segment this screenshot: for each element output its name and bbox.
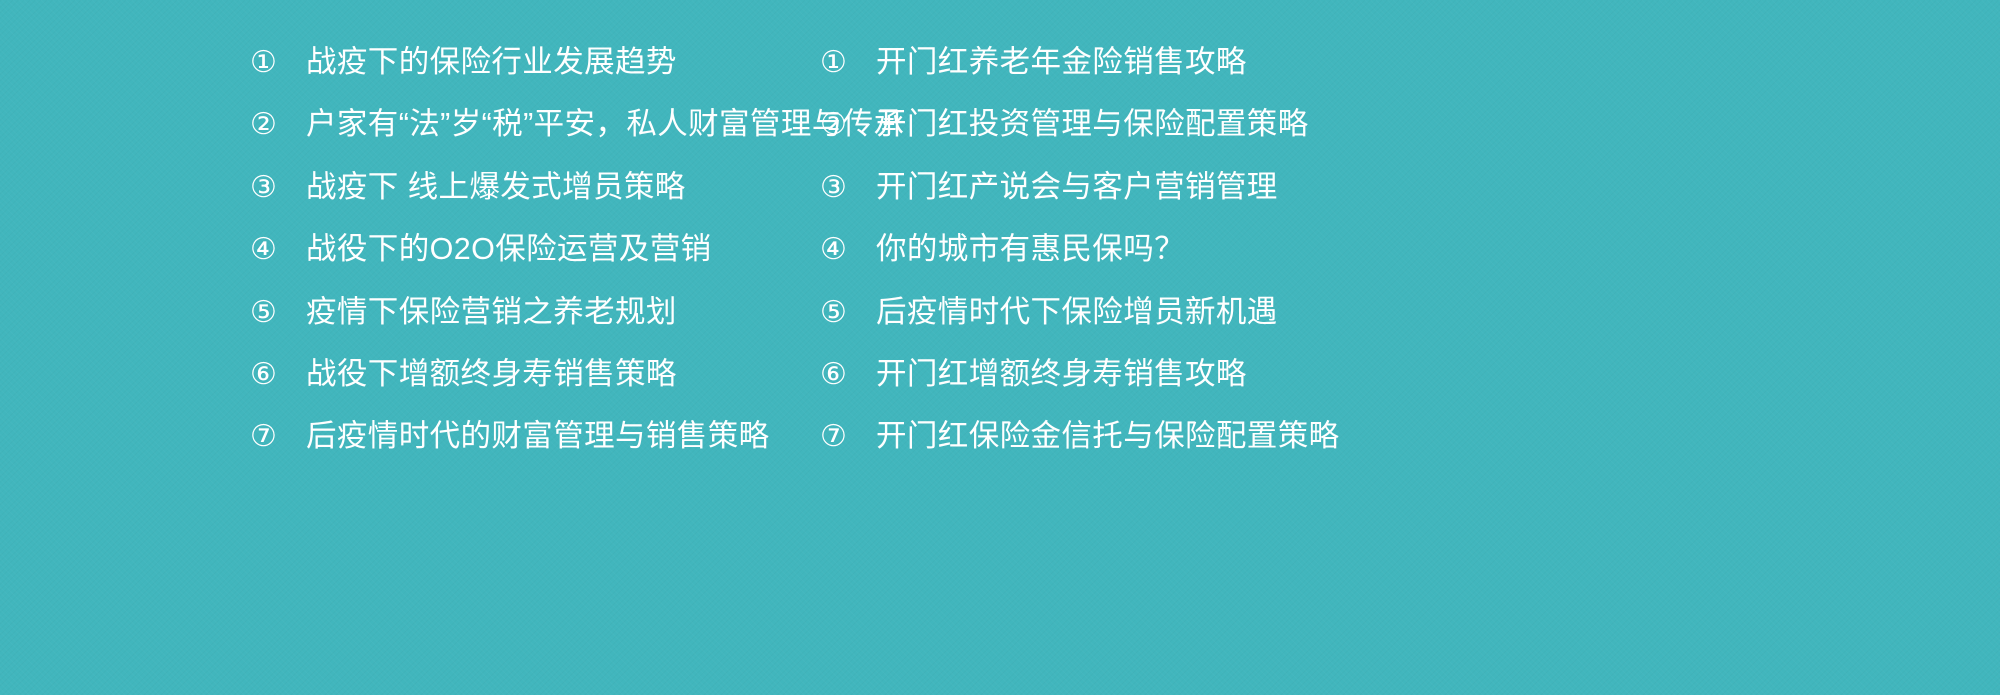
topic-marker-icon: ③: [250, 173, 306, 203]
topic-list-item[interactable]: ③ 开门红产说会与客户营销管理: [820, 172, 1750, 234]
topic-label: 战役下的O2O保险运营及营销: [306, 234, 712, 265]
topic-marker-icon: ③: [820, 173, 876, 203]
topic-list-item[interactable]: ⑤ 疫情下保险营销之养老规划: [250, 297, 785, 359]
topic-marker-icon: ⑦: [250, 422, 306, 452]
topic-list-item[interactable]: ⑥ 战役下增额终身寿销售策略: [250, 359, 785, 421]
topic-list-item[interactable]: ⑤ 后疫情时代下保险增员新机遇: [820, 297, 1750, 359]
topic-column-right: ① 开门红养老年金险销售攻略 ② 开门红投资管理与保险配置策略 ③ 开门红产说会…: [785, 47, 1750, 484]
topic-list-item[interactable]: ① 战疫下的保险行业发展趋势: [250, 47, 785, 109]
topic-marker-icon: ②: [250, 110, 306, 140]
topic-marker-icon: ⑤: [820, 298, 876, 328]
topic-marker-icon: ⑦: [820, 422, 876, 452]
slide-canvas: ① 战疫下的保险行业发展趋势 ② 户家有“法”岁“税”平安，私人财富管理与传承 …: [0, 0, 2000, 695]
topic-marker-icon: ①: [820, 48, 876, 78]
topic-label: 开门红产说会与客户营销管理: [876, 172, 1278, 203]
topic-list-item[interactable]: ⑦ 后疫情时代的财富管理与销售策略: [250, 421, 785, 483]
topic-list-item[interactable]: ② 开门红投资管理与保险配置策略: [820, 109, 1750, 171]
topic-list-item[interactable]: ③ 战疫下 线上爆发式增员策略: [250, 172, 785, 234]
topic-label: 战疫下 线上爆发式增员策略: [306, 172, 686, 203]
topic-marker-icon: ⑥: [820, 360, 876, 390]
topic-marker-icon: ⑥: [250, 360, 306, 390]
topic-marker-icon: ①: [250, 48, 306, 78]
topic-label: 疫情下保险营销之养老规划: [306, 297, 677, 328]
topic-columns: ① 战疫下的保险行业发展趋势 ② 户家有“法”岁“税”平安，私人财富管理与传承 …: [0, 0, 2000, 484]
topic-label: 开门红保险金信托与保险配置策略: [876, 421, 1340, 452]
topic-list-item[interactable]: ④ 战役下的O2O保险运营及营销: [250, 234, 785, 296]
topic-list-item[interactable]: ① 开门红养老年金险销售攻略: [820, 47, 1750, 109]
topic-list-item[interactable]: ④ 你的城市有惠民保吗？: [820, 234, 1750, 296]
topic-label: 开门红养老年金险销售攻略: [876, 47, 1247, 78]
topic-marker-icon: ④: [820, 235, 876, 265]
topic-label: 后疫情时代下保险增员新机遇: [876, 297, 1278, 328]
topic-label: 开门红增额终身寿销售攻略: [876, 359, 1247, 390]
topic-marker-icon: ②: [820, 110, 876, 140]
topic-label: 开门红投资管理与保险配置策略: [876, 109, 1309, 140]
topic-list-item[interactable]: ⑥ 开门红增额终身寿销售攻略: [820, 359, 1750, 421]
topic-label: 你的城市有惠民保吗？: [876, 234, 1185, 265]
topic-label: 战疫下的保险行业发展趋势: [306, 47, 677, 78]
topic-list-item[interactable]: ② 户家有“法”岁“税”平安，私人财富管理与传承: [250, 109, 785, 171]
topic-marker-icon: ④: [250, 235, 306, 265]
topic-label: 战役下增额终身寿销售策略: [306, 359, 677, 390]
topic-list-item[interactable]: ⑦ 开门红保险金信托与保险配置策略: [820, 421, 1750, 483]
topic-column-left: ① 战疫下的保险行业发展趋势 ② 户家有“法”岁“税”平安，私人财富管理与传承 …: [0, 47, 785, 484]
topic-marker-icon: ⑤: [250, 298, 306, 328]
topic-label: 后疫情时代的财富管理与销售策略: [306, 421, 770, 452]
